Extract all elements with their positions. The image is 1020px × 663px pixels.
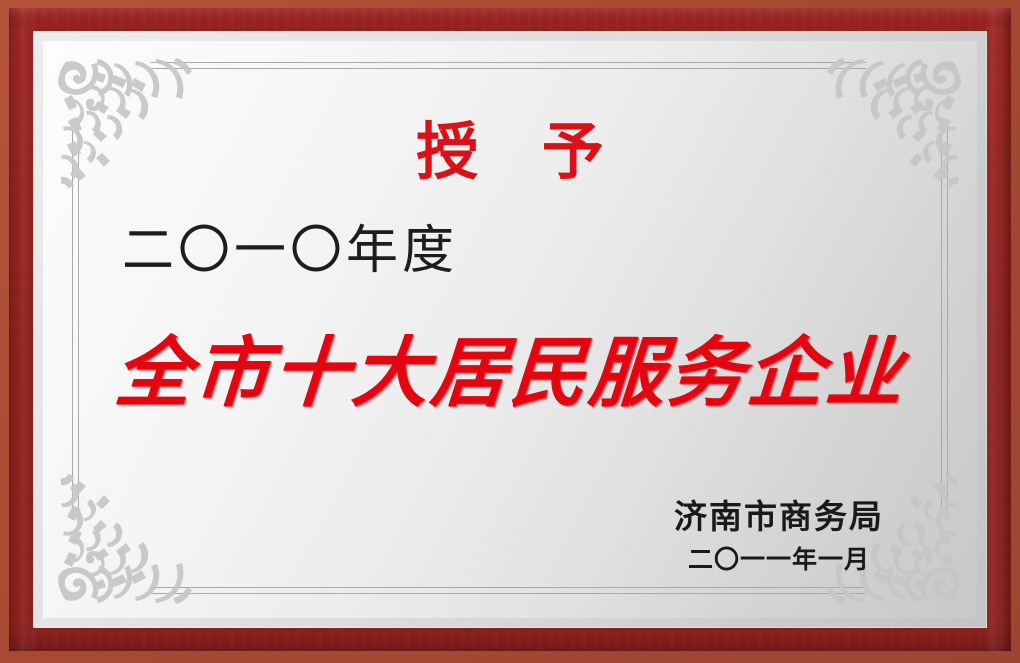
award-verb-text: 授 予 <box>0 122 1020 184</box>
issue-date-text: 二〇一一年一月 <box>674 541 884 579</box>
award-plaque: 授 予 二〇一〇年度 全市十大居民服务企业 济南市商务局 二〇一一年一月 <box>0 0 1020 663</box>
plaque-content: 授 予 二〇一〇年度 全市十大居民服务企业 济南市商务局 二〇一一年一月 <box>0 0 1020 663</box>
award-year-text: 二〇一〇年度 <box>122 226 458 278</box>
issuing-organization-text: 济南市商务局 <box>674 498 884 537</box>
award-title-text: 全市十大居民服务企业 <box>0 330 1020 415</box>
signature-block: 济南市商务局 二〇一一年一月 <box>674 498 884 578</box>
